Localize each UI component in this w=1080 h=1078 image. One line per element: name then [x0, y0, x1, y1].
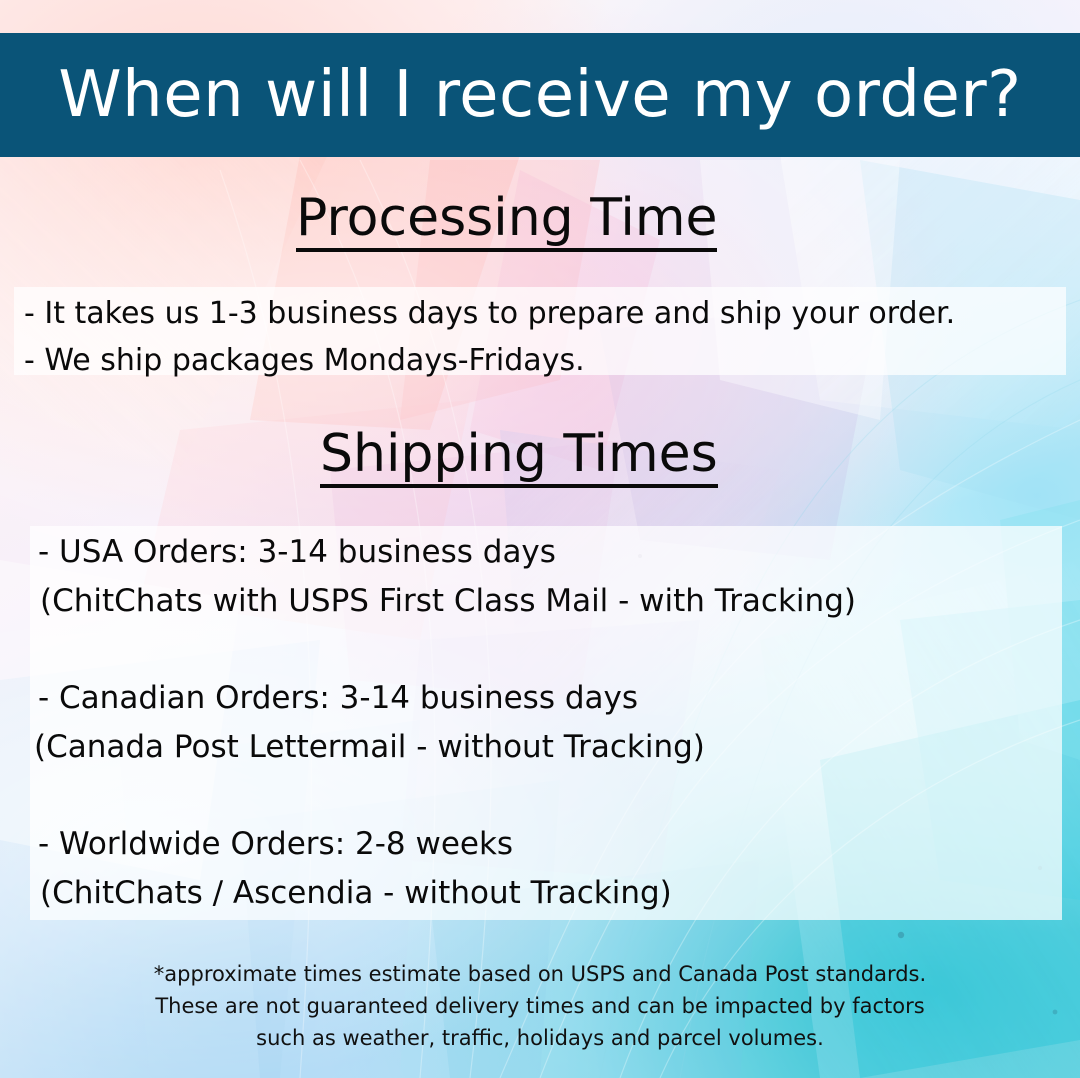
page-title: When will I receive my order? — [58, 63, 1021, 127]
footnote-line-1: *approximate times estimate based on USP… — [60, 958, 1020, 990]
poster-canvas: When will I receive my order? Processing… — [0, 0, 1080, 1078]
section-heading-processing-time: Processing Time — [296, 192, 717, 252]
shipping-group-worldwide: - Worldwide Orders: 2-8 weeks (ChitChats… — [34, 820, 1044, 918]
shipping-usa-line-1: - USA Orders: 3-14 business days — [34, 528, 1044, 577]
shipping-canada-line-1: - Canadian Orders: 3-14 business days — [34, 674, 1044, 723]
shipping-worldwide-line-1: - Worldwide Orders: 2-8 weeks — [34, 820, 1044, 869]
shipping-usa-line-2: (ChitChats with USPS First Class Mail - … — [34, 577, 1044, 626]
shipping-worldwide-line-2: (ChitChats / Ascendia - without Tracking… — [34, 869, 1044, 918]
header-banner: When will I receive my order? — [0, 33, 1080, 157]
shipping-canada-line-2: (Canada Post Lettermail - without Tracki… — [34, 723, 1044, 772]
processing-line-1: - It takes us 1-3 business days to prepa… — [24, 290, 1064, 337]
footnote-line-3: such as weather, traffic, holidays and p… — [60, 1022, 1020, 1054]
processing-time-text: - It takes us 1-3 business days to prepa… — [24, 290, 1064, 384]
footnote-disclaimer: *approximate times estimate based on USP… — [60, 958, 1020, 1054]
footnote-line-2: These are not guaranteed delivery times … — [60, 990, 1020, 1022]
processing-line-2: - We ship packages Mondays-Fridays. — [24, 337, 1064, 384]
shipping-group-canada: - Canadian Orders: 3-14 business days (C… — [34, 674, 1044, 772]
section-heading-shipping-times: Shipping Times — [320, 428, 718, 488]
shipping-group-usa: - USA Orders: 3-14 business days (ChitCh… — [34, 528, 1044, 626]
